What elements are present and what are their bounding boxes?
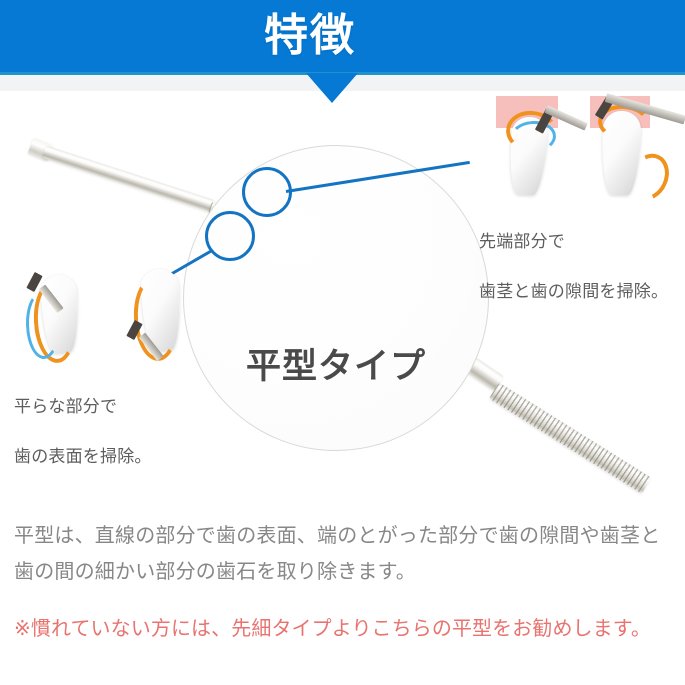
page-title: 特徴 [0, 8, 620, 64]
caption-flat-line2: 歯の表面を掃除。 [14, 444, 234, 469]
caption-tip-line2: 歯茎と歯の隙間を掃除。 [479, 279, 685, 304]
description-body: 平型は、直線の部分で歯の表面、端のとがった部分で歯の隙間や歯茎と歯の間の細かい部… [14, 518, 674, 590]
header-banner: 特徴 [0, 0, 685, 75]
flat-panel-1 [8, 269, 100, 365]
scaler-handle-knurl [489, 382, 652, 493]
tip-panel-1 [496, 95, 588, 195]
scaler-upper-shaft [42, 145, 215, 212]
illustration-stage: 平型タイプ 先端部分で 歯茎と歯の隙間を掃除。 [0, 91, 685, 491]
tip-panel-2 [588, 95, 684, 200]
flat-panel-2 [108, 269, 204, 369]
scaler-tool-upper [30, 129, 270, 169]
callout-ring-tip[interactable] [242, 167, 292, 217]
caption-flat: 平らな部分で 歯の表面を掃除。 [14, 369, 234, 494]
caption-flat-line1: 平らな部分で [14, 394, 234, 419]
caption-tip: 先端部分で 歯茎と歯の隙間を掃除。 [479, 204, 685, 329]
description-note: ※慣れていない方には、先細タイプよりこちらの平型をお勧めします。 [14, 612, 679, 646]
callout-ring-flat[interactable] [205, 211, 255, 261]
feature-infographic: 特徴 平型タイプ [0, 0, 685, 685]
caption-tip-line1: 先端部分で [479, 229, 685, 254]
